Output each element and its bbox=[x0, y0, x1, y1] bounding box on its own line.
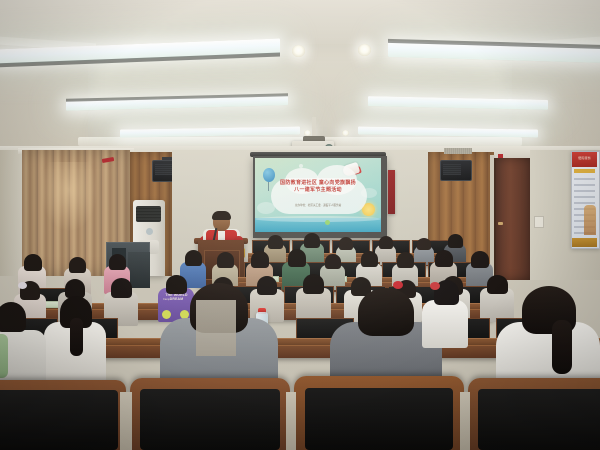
tshirt-subtext: Camp bbox=[163, 298, 177, 301]
person-hair bbox=[397, 252, 414, 268]
floor-gap bbox=[286, 392, 296, 450]
poster-row bbox=[574, 196, 595, 198]
person-torso bbox=[422, 300, 468, 348]
person-ponytail bbox=[552, 320, 572, 374]
downlight-icon bbox=[342, 130, 349, 136]
poster-header-text: 便民服务 bbox=[572, 156, 597, 160]
person-ponytail bbox=[70, 318, 83, 356]
person-hair bbox=[69, 257, 86, 273]
person-hair bbox=[111, 278, 132, 298]
person-hair bbox=[304, 233, 320, 248]
downlight-icon bbox=[358, 44, 371, 56]
slide-title: 国防教育进社区 童心向党旗飘扬 八一建军节主题活动 bbox=[269, 180, 367, 194]
floor-gap bbox=[120, 392, 132, 450]
exit-door[interactable] bbox=[494, 158, 532, 280]
person-hair bbox=[166, 275, 187, 294]
person-hair bbox=[361, 251, 378, 267]
hair-clip bbox=[18, 282, 27, 289]
door-handle-icon[interactable] bbox=[498, 222, 503, 225]
person-hair bbox=[448, 234, 463, 248]
downlight-icon bbox=[292, 45, 305, 57]
wall-pilaster-left bbox=[0, 150, 24, 276]
person-hair bbox=[303, 274, 324, 294]
hair-bow-red bbox=[430, 282, 440, 290]
chair-back-leather bbox=[305, 388, 453, 450]
slide-title-line-2: 八一建军节主题活动 bbox=[269, 187, 367, 194]
person-sleeve-green bbox=[0, 334, 8, 378]
poster-accent-band bbox=[574, 169, 595, 173]
equipment-cabinet-secondary[interactable] bbox=[128, 252, 150, 288]
poster-row bbox=[574, 184, 595, 186]
person-hair bbox=[217, 252, 234, 268]
slide-subtitle: 主办单位：社区关工委 · 退役军人服务站 bbox=[275, 204, 361, 208]
person-hair bbox=[471, 251, 489, 268]
red-vertical-banner bbox=[388, 170, 395, 214]
poster-row bbox=[574, 202, 595, 204]
person-hair bbox=[268, 235, 283, 249]
chair-back-leather bbox=[478, 389, 600, 450]
slide-dot bbox=[325, 220, 330, 225]
person-hair bbox=[417, 238, 431, 250]
ceiling-soffit bbox=[0, 0, 600, 44]
slide-title-line-1: 国防教育进社区 童心向党旗飘扬 bbox=[269, 180, 367, 187]
person-hair bbox=[251, 251, 269, 268]
person-hair bbox=[0, 302, 26, 332]
light-switch[interactable] bbox=[534, 216, 544, 228]
person-hair bbox=[379, 236, 393, 249]
curtain-daylight-glow bbox=[40, 162, 98, 232]
poster-illustration bbox=[584, 205, 596, 235]
air-conditioner-vent-icon bbox=[136, 206, 161, 222]
person-hair bbox=[325, 254, 341, 269]
floor-gap bbox=[460, 392, 470, 450]
poster-footer-band bbox=[572, 238, 597, 247]
hair-bow-red bbox=[393, 281, 403, 289]
projection-screen[interactable]: 国防教育进社区 童心向党旗飘扬 八一建军节主题活动 主办单位：社区关工委 · 退… bbox=[255, 158, 381, 232]
poster-row bbox=[574, 190, 595, 192]
person-hair bbox=[339, 237, 353, 250]
speaker-grille-icon bbox=[443, 164, 461, 175]
aisle-floor bbox=[196, 300, 236, 356]
slide-water-highlight bbox=[255, 216, 381, 222]
person-hair bbox=[257, 276, 277, 295]
person-hair bbox=[185, 250, 202, 266]
person-hair bbox=[24, 254, 42, 271]
presenter-hair bbox=[212, 211, 231, 220]
photo-scene: 国防教育进社区 童心向党旗飘扬 八一建军节主题活动 主办单位：社区关工委 · 退… bbox=[0, 0, 600, 450]
chair-back-leather bbox=[0, 390, 118, 450]
person-hair bbox=[435, 250, 453, 267]
tshirt-graphic bbox=[162, 310, 171, 319]
person-hair bbox=[487, 275, 508, 294]
person-hair bbox=[288, 249, 306, 267]
person-hair bbox=[358, 288, 414, 336]
poster-row bbox=[574, 178, 595, 180]
chair-back-leather bbox=[140, 389, 280, 450]
air-conditioner-display bbox=[146, 228, 153, 235]
ceiling-vent-grille bbox=[444, 148, 472, 154]
person-hair bbox=[109, 254, 126, 270]
